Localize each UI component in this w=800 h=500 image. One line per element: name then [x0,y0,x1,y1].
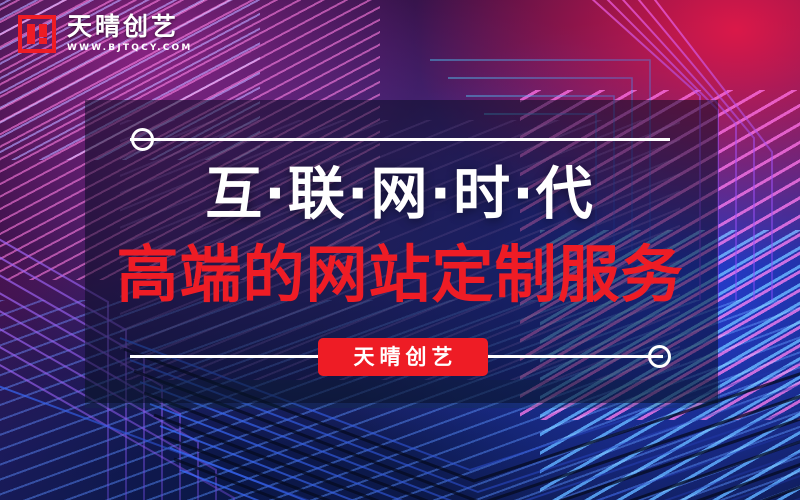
brand-logo[interactable]: 天晴创艺 WWW.BJTQCY.COM [18,14,193,55]
subheadline-text: 高端的网站定制服务 [0,244,800,306]
top-circle-outline-icon [131,128,154,151]
top-divider-rule [130,138,670,141]
brand-badge-label: 天晴创艺 [349,347,458,368]
bottom-circle-outline-icon [648,345,671,368]
promo-banner: 天晴创艺 WWW.BJTQCY.COM 互·联·网·时·代 高端的网站定制服务 … [0,0,800,500]
headline-text: 互·联·网·时·代 [0,166,800,223]
logo-mark-bar-icon [39,38,47,44]
brand-badge[interactable]: 天晴创艺 [318,338,488,376]
logo-mark-icon [18,15,56,53]
logo-company-name: 天晴创艺 [67,14,193,40]
logo-website-url: WWW.BJTQCY.COM [67,42,193,55]
logo-text-block: 天晴创艺 WWW.BJTQCY.COM [67,14,193,55]
